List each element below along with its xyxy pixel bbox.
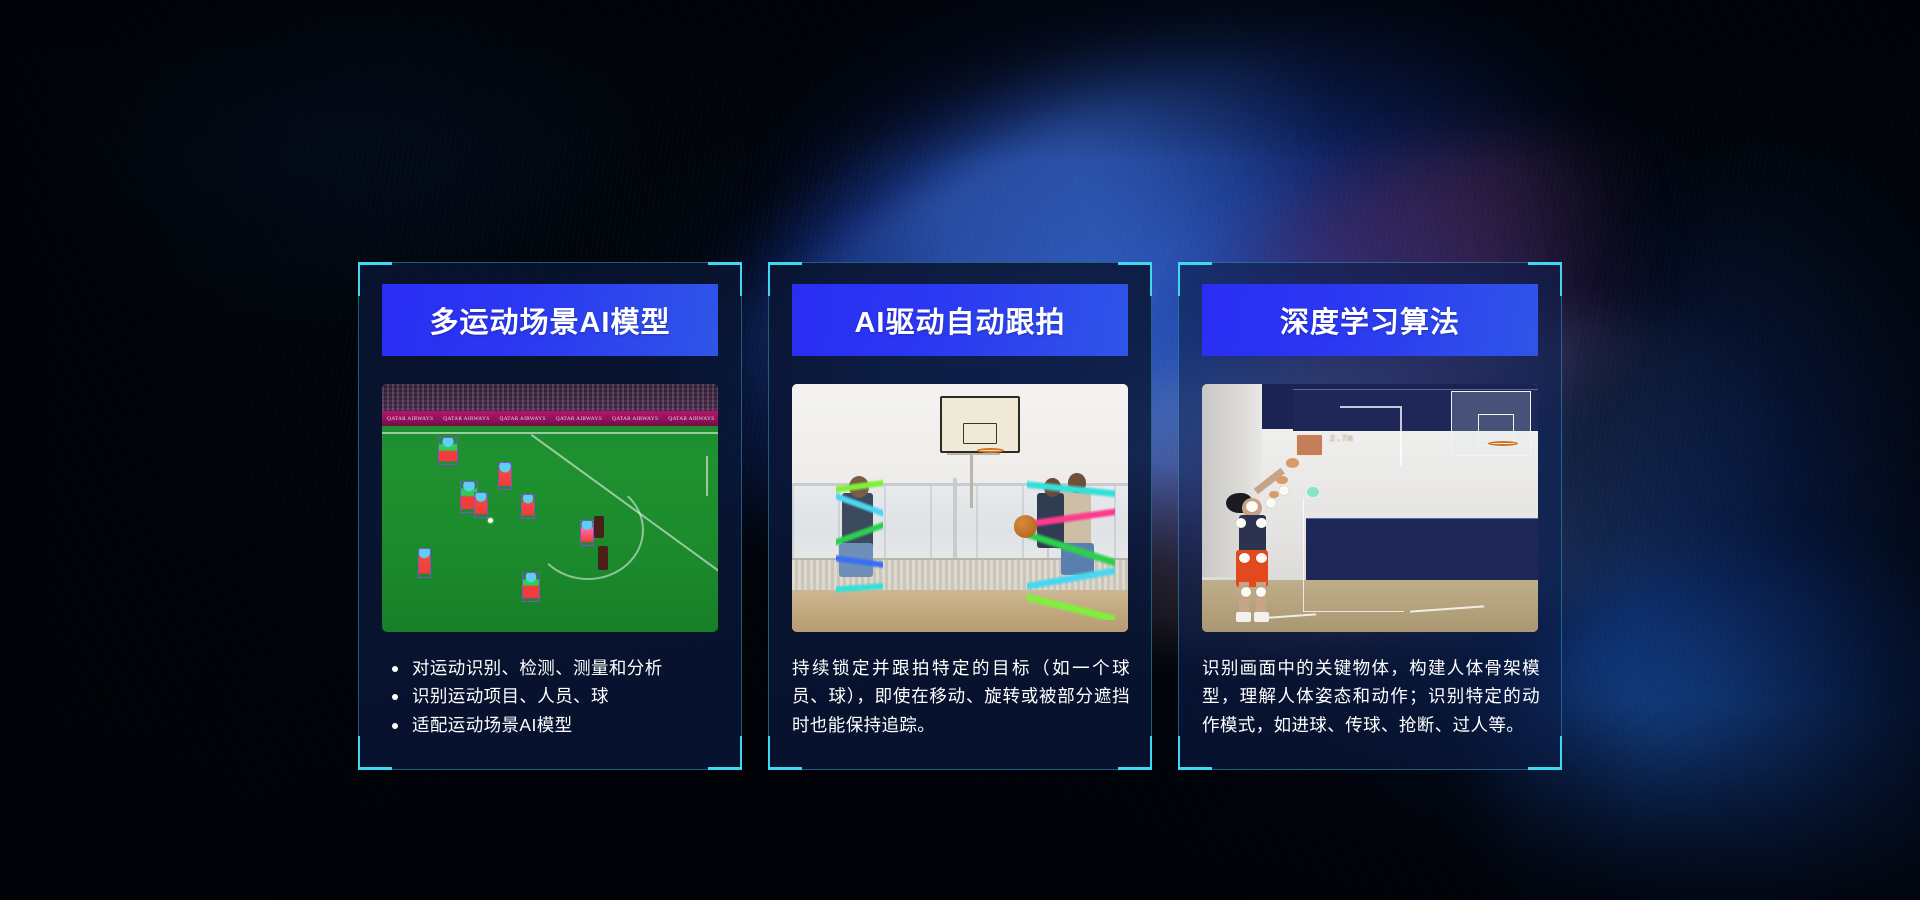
corner-bracket-bottom-right-icon [1118, 736, 1152, 770]
bullet-dot-icon [392, 723, 398, 729]
card-edge-right [1151, 262, 1152, 770]
card-paragraph-text: 识别画面中的关键物体，构建人体骨架模型，理解人体姿态和动作；识别特定的动作模式，… [1202, 654, 1540, 739]
basketball [1014, 515, 1038, 537]
card-edge-right [741, 262, 742, 770]
feature-card-multi-sport-ai-model[interactable]: 多运动场景AI模型 QATAR AIRWAYS QATAR AIRWAYS QA… [358, 262, 742, 770]
detection-box-7 [418, 548, 431, 578]
reference-line-vertical-left [1303, 498, 1305, 612]
ad-text-4: QATAR AIRWAYS [551, 416, 607, 422]
card-edge-top [768, 262, 1152, 263]
undetected-player-1 [594, 516, 604, 538]
ad-text-3: QATAR AIRWAYS [495, 416, 551, 422]
keypoint-knee-left [1241, 587, 1251, 596]
bullet-item: 识别运动项目、人员、球 [392, 682, 720, 710]
detection-marker-green [1306, 486, 1319, 498]
backboard-inner-square [963, 423, 997, 444]
gym-scene-art [792, 384, 1128, 632]
card-media-soccer[interactable]: QATAR AIRWAYS QATAR AIRWAYS QATAR AIRWAY… [382, 384, 718, 632]
pitch-line-touch [382, 432, 718, 434]
player-right-skeleton [1027, 466, 1114, 620]
keypoint-shoulder-right [1256, 518, 1267, 528]
undetected-player-2 [598, 546, 608, 570]
card-title-banner: AI驱动自动跟拍 [792, 284, 1128, 356]
card-title-banner: 多运动场景AI模型 [382, 284, 718, 356]
backboard [940, 396, 1021, 453]
card-edge-left [768, 262, 769, 770]
shooter-shoe-right [1254, 612, 1269, 622]
corner-bracket-bottom-left-icon [358, 736, 392, 770]
keypoint-shoulder-left [1236, 518, 1247, 528]
feature-card-ai-auto-tracking[interactable]: AI驱动自动跟拍 [768, 262, 1152, 770]
card-title-text: 深度学习算法 [1280, 299, 1460, 341]
card-edge-bottom [358, 769, 742, 770]
pitch-line-right-box [706, 456, 708, 496]
keypoint-hip-right [1256, 553, 1267, 563]
corner-bracket-bottom-left-icon [1178, 736, 1212, 770]
bullet-item: 适配运动场景AI模型 [392, 711, 720, 739]
card-title-text: AI驱动自动跟拍 [854, 299, 1065, 341]
card-body-paragraph: 持续锁定并跟拍特定的目标（如一个球员、球），即使在移动、旋转或被部分遮挡时也能保… [792, 654, 1130, 739]
reference-line-horizontal-bottom [1303, 611, 1404, 613]
corner-bracket-bottom-left-icon [768, 736, 802, 770]
soccer-ball [488, 518, 493, 523]
hoop-rim [1488, 441, 1518, 446]
court-wall-pad-lower [1306, 518, 1538, 587]
shooter-shoe-left [1236, 612, 1251, 622]
keypoint-hip-left [1239, 553, 1250, 563]
hoop-support-post [970, 453, 973, 508]
trajectory-line-horizontal [1340, 406, 1400, 408]
bullet-dot-icon [392, 694, 398, 700]
detection-box-8 [522, 572, 540, 602]
detection-box-1 [438, 437, 458, 465]
bullet-dot-icon [392, 666, 398, 672]
advert-banner: QATAR AIRWAYS QATAR AIRWAYS QATAR AIRWAY… [382, 411, 718, 426]
card-media-gym[interactable] [792, 384, 1128, 632]
card-body-paragraph: 识别画面中的关键物体，构建人体骨架模型，理解人体姿态和动作；识别特定的动作模式，… [1202, 654, 1540, 739]
card-title-text: 多运动场景AI模型 [429, 299, 670, 341]
ad-text-2: QATAR AIRWAYS [438, 416, 494, 422]
card-media-court[interactable]: 2.7m [1202, 384, 1538, 632]
card-edge-top [1178, 262, 1562, 263]
detection-box-2 [498, 462, 512, 490]
slide-root: 多运动场景AI模型 QATAR AIRWAYS QATAR AIRWAYS QA… [0, 0, 1920, 900]
detection-box-4 [474, 492, 488, 518]
bullet-text: 适配运动场景AI模型 [412, 711, 720, 739]
keypoint-wrist [1279, 486, 1288, 495]
card-edge-left [1178, 262, 1179, 770]
card-edge-bottom [1178, 769, 1562, 770]
hoop-support-arm [947, 453, 1001, 455]
distance-label: 2.7m [1330, 434, 1354, 444]
trajectory-line-vertical [1400, 406, 1402, 466]
ad-text-5: QATAR AIRWAYS [607, 416, 663, 422]
corner-bracket-bottom-right-icon [708, 736, 742, 770]
bullet-text: 识别运动项目、人员、球 [412, 682, 720, 710]
card-edge-right [1561, 262, 1562, 770]
bullet-text: 对运动识别、检测、测量和分析 [412, 654, 720, 682]
player-left-skeleton [836, 473, 883, 617]
ball-tracking-box [1296, 434, 1323, 456]
ad-text-6: QATAR AIRWAYS [663, 416, 718, 422]
bullet-item: 对运动识别、检测、测量和分析 [392, 654, 720, 682]
detection-box-6 [580, 520, 594, 546]
card-paragraph-text: 持续锁定并跟拍特定的目标（如一个球员、球），即使在移动、旋转或被部分遮挡时也能保… [792, 654, 1130, 739]
keypoint-elbow [1266, 498, 1276, 507]
corner-bracket-bottom-right-icon [1528, 736, 1562, 770]
feature-card-deep-learning-algorithm[interactable]: 深度学习算法 [1178, 262, 1562, 770]
keypoint-knee-right [1256, 587, 1266, 596]
detection-box-5 [521, 494, 535, 519]
card-edge-top [358, 262, 742, 263]
card-edge-bottom [768, 769, 1152, 770]
feature-card-row: 多运动场景AI模型 QATAR AIRWAYS QATAR AIRWAYS QA… [358, 262, 1562, 770]
keypoint-head [1246, 501, 1258, 512]
soccer-pitch-art: QATAR AIRWAYS QATAR AIRWAYS QATAR AIRWAY… [382, 384, 718, 632]
card-edge-left [358, 262, 359, 770]
court-floor [1202, 580, 1538, 632]
ad-text-1: QATAR AIRWAYS [382, 416, 438, 422]
court-scene-art: 2.7m [1202, 384, 1538, 632]
card-body-bullets: 对运动识别、检测、测量和分析 识别运动项目、人员、球 适配运动场景AI模型 [392, 654, 720, 739]
card-title-banner: 深度学习算法 [1202, 284, 1538, 356]
